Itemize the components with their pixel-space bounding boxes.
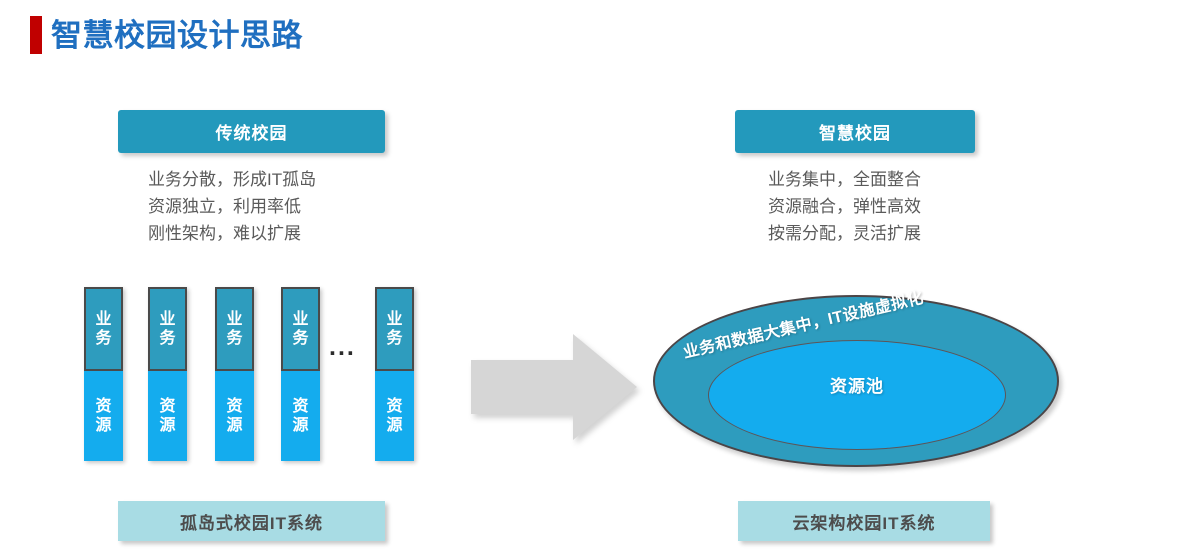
right-arrow-icon [471,334,637,440]
silo-pillar-resource-label: 资源 [292,397,309,435]
right-column-header-label: 智慧校园 [819,119,891,144]
silo-pillar-business-label: 业务 [95,310,112,348]
left-column-caption: 孤岛式校园IT系统 [118,501,385,541]
silo-pillar: 业务 资源 [148,287,187,461]
left-column-caption-label: 孤岛式校园IT系统 [180,509,323,534]
silo-pillar-resource-label: 资源 [95,397,112,435]
silo-pillar: 业务 资源 [215,287,254,461]
silo-pillar-business-segment: 业务 [281,287,320,371]
silo-pillars-group: 业务 资源 业务 资源 业务 资源 业务 资源 ... 业务 [84,287,424,463]
cloud-resource-pool-diagram: 业务和数据大集中，IT设施虚拟化 资源池 [650,292,1064,470]
silo-pillar: 业务 资源 [281,287,320,461]
left-desc-line-3: 刚性架构，难以扩展 [148,220,316,247]
silo-pillar-business-label: 业务 [226,310,243,348]
right-column-header: 智慧校园 [735,110,975,153]
left-desc-line-1: 业务分散，形成IT孤岛 [148,166,316,193]
left-column-header: 传统校园 [118,110,385,153]
left-column-header-label: 传统校园 [216,119,288,144]
right-desc-line-3: 按需分配，灵活扩展 [768,220,921,247]
page-title: 智慧校园设计思路 [51,20,303,51]
silo-pillar-resource-segment: 资源 [148,371,187,461]
silo-pillar-resource-label: 资源 [226,397,243,435]
silo-pillar-business-label: 业务 [159,310,176,348]
silo-pillar-resource-segment: 资源 [375,371,414,461]
cloud-pool-label: 资源池 [650,372,1064,397]
silo-pillar-resource-label: 资源 [159,397,176,435]
right-desc-line-1: 业务集中，全面整合 [768,166,921,193]
silo-pillar-business-label: 业务 [292,310,309,348]
silo-pillar-business-segment: 业务 [148,287,187,371]
silo-pillar-business-segment: 业务 [84,287,123,371]
silo-pillar-business-label: 业务 [386,310,403,348]
silo-pillar-resource-segment: 资源 [281,371,320,461]
silo-pillar-business-segment: 业务 [215,287,254,371]
right-column-description: 业务集中，全面整合 资源融合，弹性高效 按需分配，灵活扩展 [768,166,921,247]
pillars-ellipsis: ... [329,335,356,360]
silo-pillar-resource-segment: 资源 [84,371,123,461]
left-column-description: 业务分散，形成IT孤岛 资源独立，利用率低 刚性架构，难以扩展 [148,166,316,247]
silo-pillar: 业务 资源 [84,287,123,461]
left-desc-line-2: 资源独立，利用率低 [148,193,316,220]
silo-pillar-business-segment: 业务 [375,287,414,371]
silo-pillar: 业务 资源 [375,287,414,461]
right-column-caption: 云架构校园IT系统 [738,501,990,541]
title-accent-bar [30,16,42,54]
right-column-caption-label: 云架构校园IT系统 [792,509,935,534]
page-title-block: 智慧校园设计思路 [30,14,303,56]
silo-pillar-resource-segment: 资源 [215,371,254,461]
right-desc-line-2: 资源融合，弹性高效 [768,193,921,220]
silo-pillar-resource-label: 资源 [386,397,403,435]
